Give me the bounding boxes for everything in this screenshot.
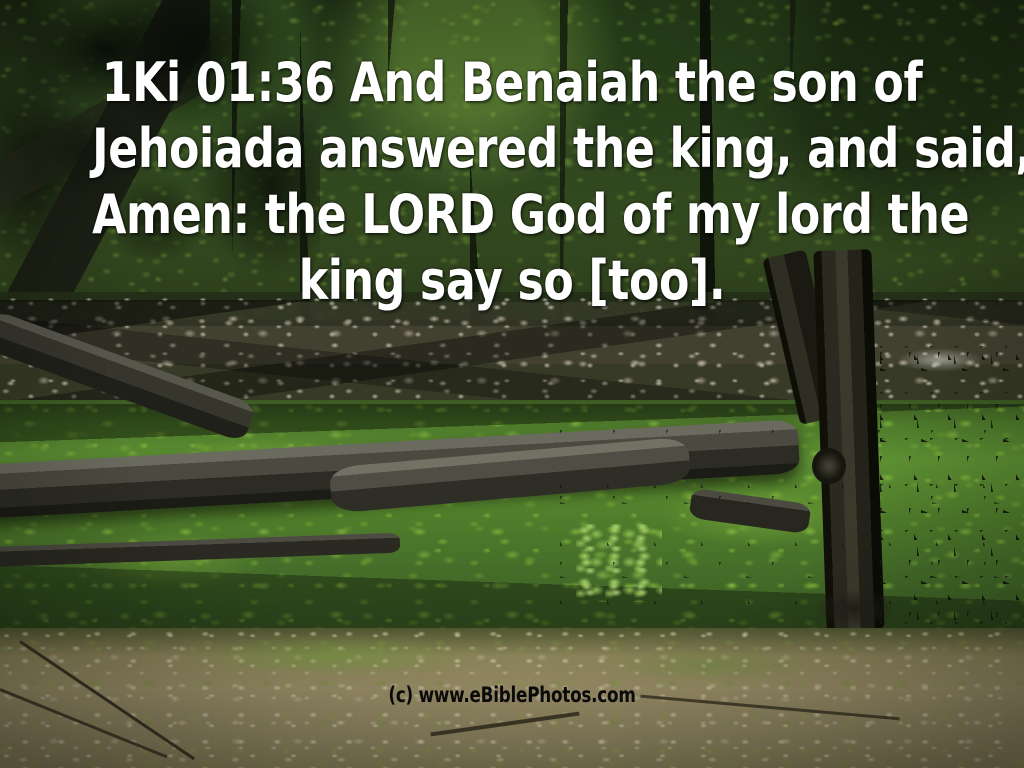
forest-photograph — [0, 0, 1024, 768]
verse-photo-canvas: 1Ki 01:36 And Benaiah the son of Jehoiad… — [0, 0, 1024, 768]
watermark-credit: (c) www.eBiblePhotos.com — [102, 684, 921, 706]
photo-vignette — [0, 0, 1024, 768]
